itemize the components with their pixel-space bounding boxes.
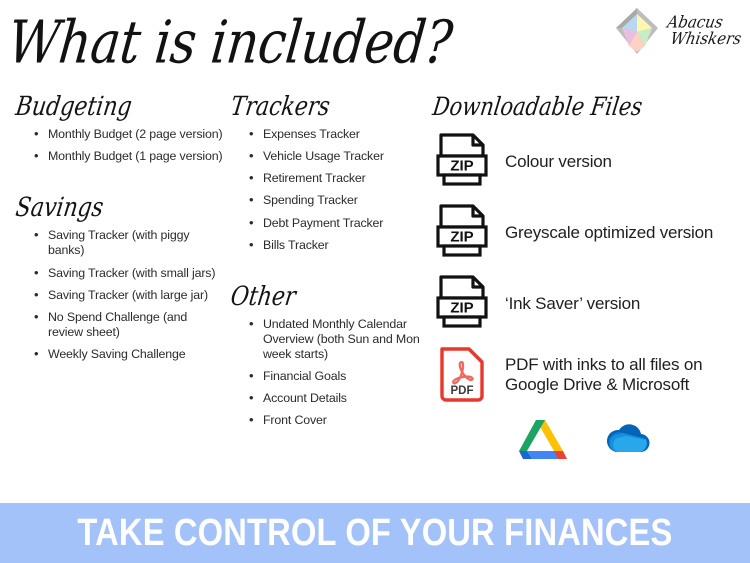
content-columns: Budgeting Monthly Budget (2 page version… [0, 92, 750, 492]
banner-text: TAKE CONTROL OF YOUR FINANCES [77, 512, 672, 555]
svg-text:PDF: PDF [451, 385, 474, 397]
zip-file-icon: ZIP [435, 274, 489, 334]
file-list: ZIP Colour version ZIP Greyscale optimiz… [435, 126, 740, 410]
column-budgeting-savings: Budgeting Monthly Budget (2 page version… [18, 92, 223, 369]
file-row-ink-saver-version: ZIP ‘Ink Saver’ version [435, 268, 740, 339]
list-item: Retirement Tracker [249, 171, 423, 186]
list-item: Account Details [249, 391, 423, 406]
gem-logo-icon [614, 6, 660, 56]
list-item: Front Cover [249, 413, 423, 428]
file-label: Greyscale optimized version [505, 223, 713, 243]
list-budgeting: Monthly Budget (2 page version) Monthly … [34, 127, 223, 164]
list-item: Expenses Tracker [249, 127, 423, 142]
column-downloadable-files: Downloadable Files ZIP Colour version [435, 92, 740, 460]
svg-text:ZIP: ZIP [450, 299, 473, 316]
zip-file-icon: ZIP [435, 203, 489, 263]
brand-name: Abacus Whiskers [663, 14, 745, 48]
section-heading-trackers: Trackers [229, 92, 423, 122]
file-label: Colour version [505, 152, 612, 172]
bottom-banner: TAKE CONTROL OF YOUR FINANCES [0, 503, 750, 563]
list-item: Weekly Saving Challenge [34, 347, 223, 362]
list-item: No Spend Challenge (and review sheet) [34, 310, 223, 340]
list-trackers: Expenses Tracker Vehicle Usage Tracker R… [249, 127, 423, 253]
column-trackers-other: Trackers Expenses Tracker Vehicle Usage … [233, 92, 423, 436]
list-item: Bills Tracker [249, 238, 423, 253]
pdf-file-icon: PDF [435, 345, 489, 405]
zip-file-icon: ZIP [435, 132, 489, 192]
list-item: Spending Tracker [249, 193, 423, 208]
file-row-colour-version: ZIP Colour version [435, 126, 740, 197]
brand-logo: Abacus Whiskers [614, 6, 742, 56]
list-item: Monthly Budget (1 page version) [34, 149, 223, 164]
file-label: PDF with inks to all files on Google Dri… [505, 355, 740, 394]
list-item: Monthly Budget (2 page version) [34, 127, 223, 142]
list-item: Financial Goals [249, 369, 423, 384]
section-heading-other: Other [229, 282, 423, 312]
file-row-pdf-links: PDF PDF with inks to all files on Google… [435, 339, 740, 410]
list-item: Saving Tracker (with small jars) [34, 266, 223, 281]
cloud-service-logos [519, 416, 740, 460]
list-item: Saving Tracker (with piggy banks) [34, 228, 223, 258]
svg-text:ZIP: ZIP [450, 228, 473, 245]
svg-text:ZIP: ZIP [450, 157, 473, 174]
file-label: ‘Ink Saver’ version [505, 294, 640, 314]
list-other: Undated Monthly Calendar Overview (both … [249, 317, 423, 429]
list-item: Debt Payment Tracker [249, 216, 423, 231]
section-heading-savings: Savings [14, 193, 223, 223]
google-drive-icon [519, 416, 571, 460]
list-savings: Saving Tracker (with piggy banks) Saving… [34, 228, 223, 362]
section-spacer [233, 260, 423, 282]
section-spacer [18, 171, 223, 193]
section-heading-downloadable-files: Downloadable Files [431, 92, 740, 121]
brand-name-line2: Whiskers [669, 31, 742, 48]
list-item: Undated Monthly Calendar Overview (both … [249, 317, 423, 362]
page-title: What is included? [5, 8, 455, 76]
file-row-greyscale-version: ZIP Greyscale optimized version [435, 197, 740, 268]
section-heading-budgeting: Budgeting [14, 92, 223, 122]
list-item: Saving Tracker (with large jar) [34, 288, 223, 303]
onedrive-icon [603, 416, 655, 460]
list-item: Vehicle Usage Tracker [249, 149, 423, 164]
